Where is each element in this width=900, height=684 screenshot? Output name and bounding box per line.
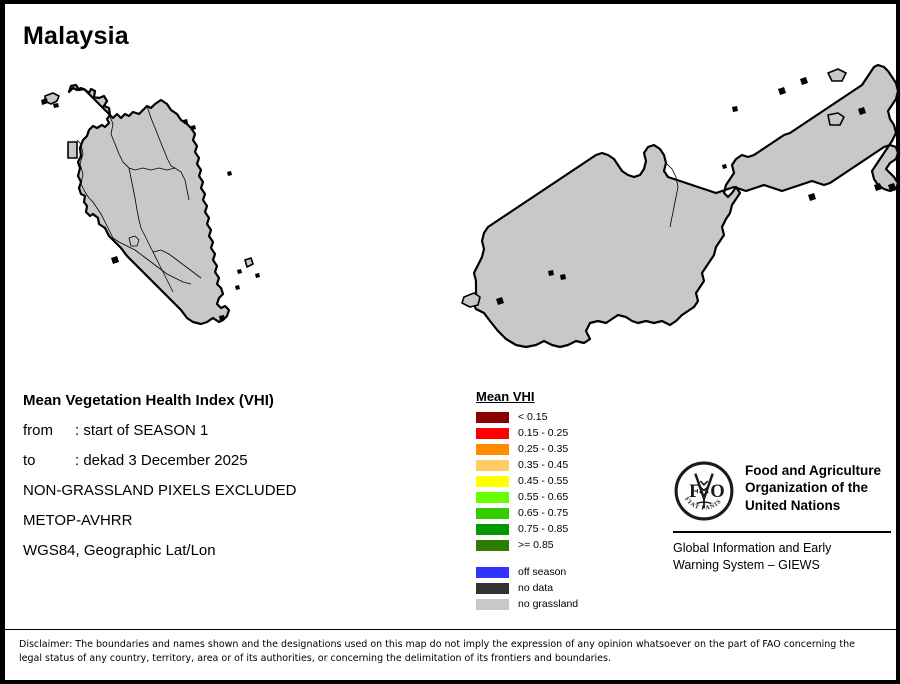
info-row-from: from: start of SEASON 1 <box>23 422 443 439</box>
legend: Mean VHI < 0.150.15 - 0.250.25 - 0.350.3… <box>473 389 663 613</box>
legend-class-list: < 0.150.15 - 0.250.25 - 0.350.35 - 0.450… <box>473 410 663 552</box>
fao-header: F O FIAT PANIS Food and Agriculture Orga <box>673 460 891 522</box>
legend-item-label: >= 0.85 <box>518 539 554 551</box>
info-row-sensor: METOP-AVHRR <box>23 512 443 529</box>
legend-item-label: 0.15 - 0.25 <box>518 427 568 439</box>
fao-emblem-icon: F O FIAT PANIS <box>673 460 735 522</box>
peninsular-malaysia-shape <box>23 70 313 340</box>
legend-color-swatch <box>476 599 509 610</box>
legend-color-swatch <box>476 460 509 471</box>
legend-item-label: no data <box>518 582 553 594</box>
info-heading: Mean Vegetation Health Index (VHI) <box>23 392 443 409</box>
info-row-pixels: NON-GRASSLAND PIXELS EXCLUDED <box>23 482 443 499</box>
giews-line-2: Warning System – GIEWS <box>673 557 891 574</box>
page-title: Malaysia <box>23 22 129 51</box>
fao-organization-name: Food and Agriculture Organization of the… <box>745 460 881 514</box>
legend-color-swatch <box>476 540 509 551</box>
legend-class-item: 0.35 - 0.45 <box>473 458 663 472</box>
legend-class-item: >= 0.85 <box>473 538 663 552</box>
legend-color-swatch <box>476 583 509 594</box>
info-from-value: : start of SEASON 1 <box>75 422 208 439</box>
legend-item-label: 0.75 - 0.85 <box>518 523 568 535</box>
legend-special-list: off seasonno datano grassland <box>473 565 663 611</box>
legend-color-swatch <box>476 444 509 455</box>
legend-item-label: 0.35 - 0.45 <box>518 459 568 471</box>
fao-name-line-3: United Nations <box>745 497 881 514</box>
legend-color-swatch <box>476 492 509 503</box>
legend-class-item: 0.45 - 0.55 <box>473 474 663 488</box>
legend-color-swatch <box>476 508 509 519</box>
legend-color-swatch <box>476 524 509 535</box>
east-malaysia-shape <box>460 59 900 359</box>
legend-class-item: 0.75 - 0.85 <box>473 522 663 536</box>
legend-title: Mean VHI <box>476 389 663 404</box>
legend-spacer <box>473 554 663 565</box>
fao-logo-icon: F O FIAT PANIS <box>673 460 735 522</box>
legend-class-item: < 0.15 <box>473 410 663 424</box>
legend-class-item: 0.65 - 0.75 <box>473 506 663 520</box>
giews-line-1: Global Information and Early <box>673 540 891 557</box>
legend-class-item: 0.15 - 0.25 <box>473 426 663 440</box>
legend-item-label: 0.55 - 0.65 <box>518 491 568 503</box>
legend-color-swatch <box>476 476 509 487</box>
fao-name-line-2: Organization of the <box>745 479 881 496</box>
legend-color-swatch <box>476 567 509 578</box>
legend-color-swatch <box>476 412 509 423</box>
legend-special-item: off season <box>473 565 663 579</box>
fao-divider <box>673 531 891 533</box>
legend-item-label: off season <box>518 566 566 578</box>
info-row-to: to: dekad 3 December 2025 <box>23 452 443 469</box>
legend-item-label: 0.45 - 0.55 <box>518 475 568 487</box>
legend-special-item: no grassland <box>473 597 663 611</box>
legend-item-label: no grassland <box>518 598 578 610</box>
map-info-block: Mean Vegetation Health Index (VHI) from:… <box>23 392 443 572</box>
legend-color-swatch <box>476 428 509 439</box>
giews-subtitle: Global Information and Early Warning Sys… <box>673 540 891 573</box>
legend-special-item: no data <box>473 581 663 595</box>
legend-item-label: 0.65 - 0.75 <box>518 507 568 519</box>
disclaimer-divider <box>5 629 897 630</box>
fao-branding-block: F O FIAT PANIS Food and Agriculture Orga <box>673 460 891 573</box>
info-row-projection: WGS84, Geographic Lat/Lon <box>23 542 443 559</box>
legend-item-label: 0.25 - 0.35 <box>518 443 568 455</box>
fao-name-line-1: Food and Agriculture <box>745 462 881 479</box>
disclaimer-text: Disclaimer: The boundaries and names sho… <box>19 638 879 666</box>
legend-item-label: < 0.15 <box>518 411 548 423</box>
info-from-label: from <box>23 422 75 439</box>
legend-class-item: 0.25 - 0.35 <box>473 442 663 456</box>
map-page: Malaysia <box>0 0 900 684</box>
map-region-east-malaysia <box>460 59 900 359</box>
legend-class-item: 0.55 - 0.65 <box>473 490 663 504</box>
info-to-label: to <box>23 452 75 469</box>
info-to-value: : dekad 3 December 2025 <box>75 452 248 469</box>
map-region-peninsular-malaysia <box>23 70 313 340</box>
